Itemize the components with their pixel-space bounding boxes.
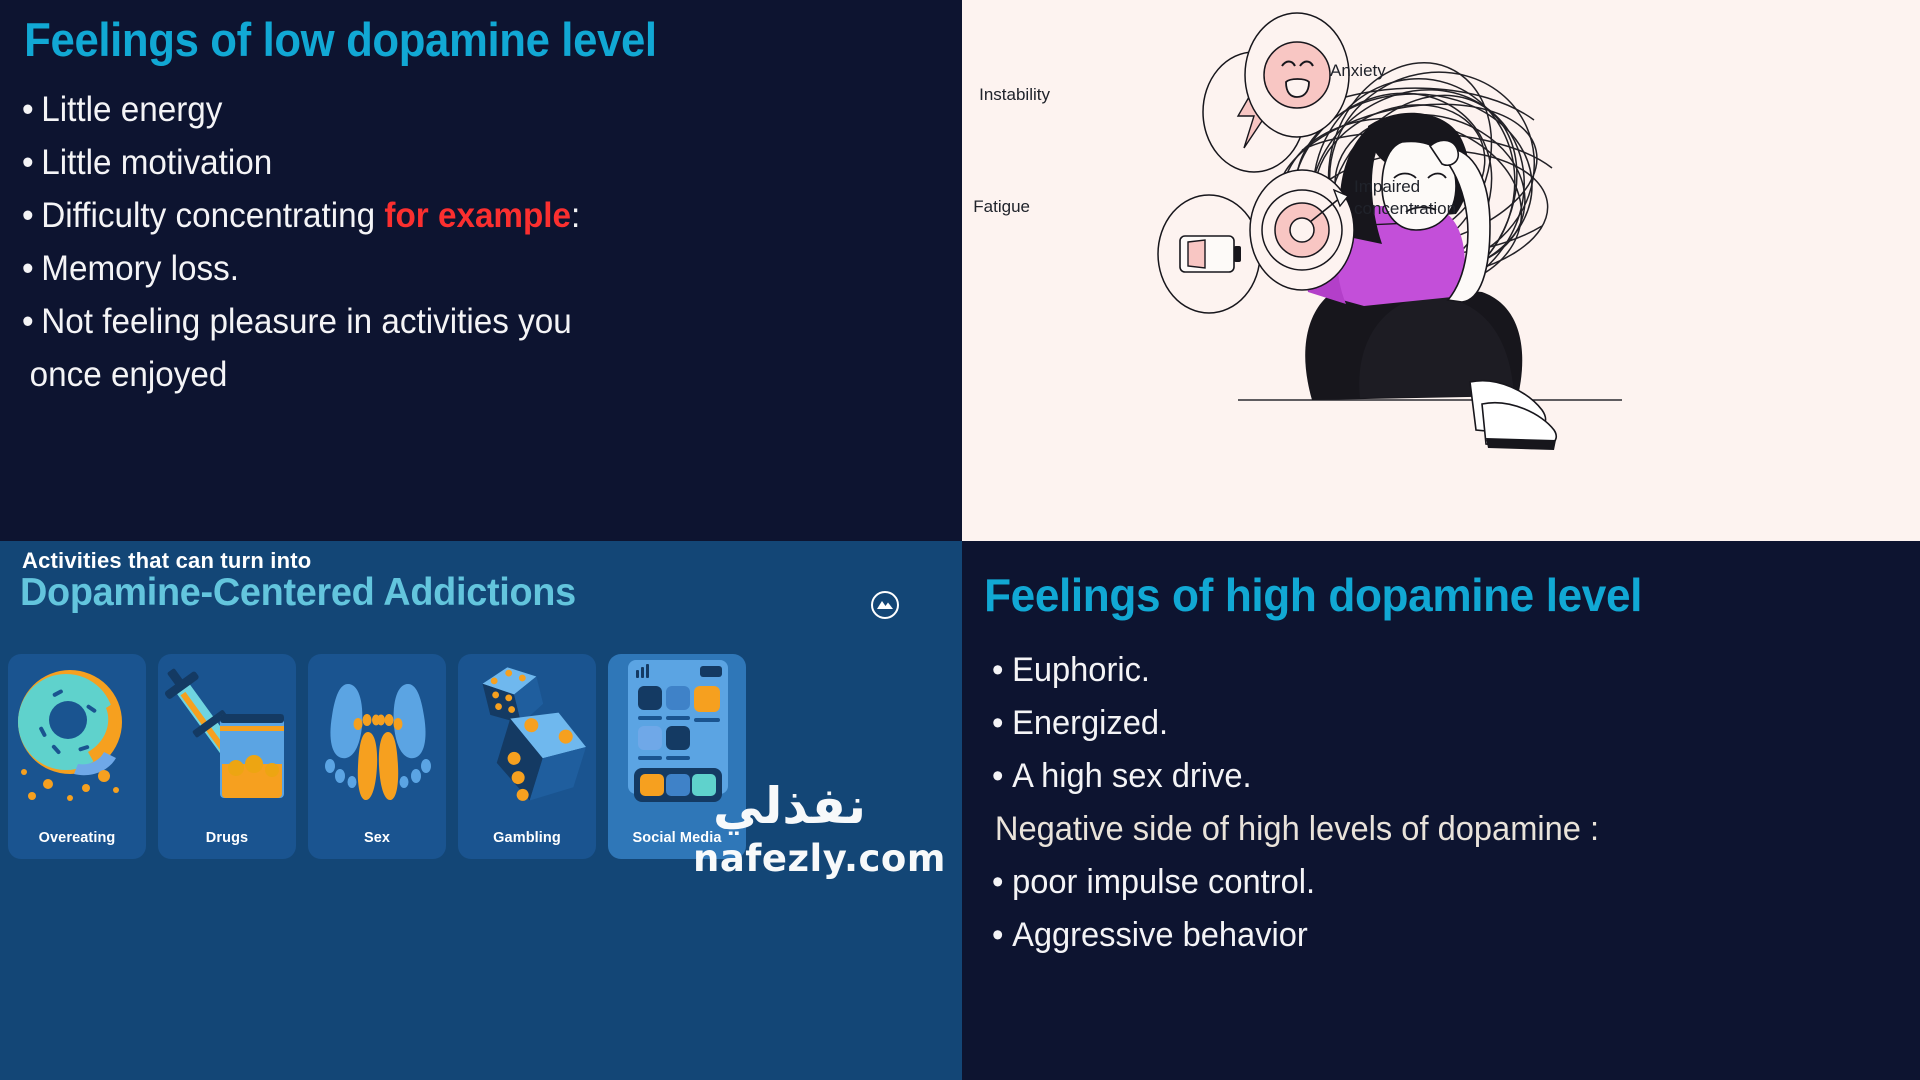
illustration-canvas: Instability Fatigue Anxiety Impaired con…	[962, 0, 1920, 541]
smartphone-apps-icon	[608, 660, 746, 810]
list-item-continuation: once enjoyed	[22, 348, 915, 401]
bullet-glyph: •	[22, 249, 34, 288]
bullet-glyph: •	[22, 143, 34, 182]
low-dopamine-bullet-list: •Little energy •Little motivation •Diffi…	[0, 67, 962, 401]
bullet-glyph: •	[992, 863, 1003, 901]
label-instability: Instability	[962, 84, 1050, 106]
addiction-card-sex[interactable]: Sex	[308, 654, 446, 859]
label-impaired-line2: concentration	[1354, 198, 1524, 220]
card-label: Gambling	[458, 830, 596, 846]
label-impaired-concentration: Impaired concentration	[1354, 176, 1524, 220]
impaired-concentration-bubble	[1250, 170, 1354, 290]
label-fatigue: Fatigue	[962, 196, 1030, 218]
list-item: •Euphoric.	[992, 644, 1883, 697]
list-item: •Little energy	[22, 83, 915, 136]
circle-mountain-logo-icon	[870, 590, 900, 620]
list-item: •Little motivation	[22, 136, 915, 189]
list-item-label: Euphoric.	[1012, 651, 1150, 689]
card-label: Overeating	[8, 830, 146, 846]
list-item-label: Energized.	[1012, 704, 1168, 742]
bullet-glyph: •	[992, 757, 1003, 795]
list-item: •A high sex drive.	[992, 750, 1883, 803]
addiction-card-list: Overeating	[8, 654, 746, 859]
bullet-glyph: •	[22, 90, 34, 129]
list-item-label: Little motivation	[41, 143, 272, 182]
list-item-label: Aggressive behavior	[1012, 916, 1308, 954]
card-label: Sex	[308, 830, 446, 846]
list-item: •Aggressive behavior	[992, 909, 1883, 962]
fatigue-bubble	[1158, 195, 1260, 313]
sub-heading: Negative side of high levels of dopamine…	[992, 803, 1883, 856]
high-dopamine-bullet-list: •Euphoric. •Energized. •A high sex drive…	[962, 622, 1920, 962]
dice-icon	[458, 660, 596, 810]
card-label: Drugs	[158, 830, 296, 846]
list-item: •Memory loss.	[22, 242, 915, 295]
bullet-glyph: •	[22, 196, 34, 235]
list-item: •poor impulse control.	[992, 856, 1883, 909]
label-impaired-line1: Impaired	[1354, 176, 1524, 198]
addictions-headline: Dopamine-Centered Addictions	[20, 571, 576, 615]
syringe-and-jar-icon	[158, 660, 296, 810]
footprints-icon	[308, 660, 446, 810]
addiction-card-drugs[interactable]: Drugs	[158, 654, 296, 859]
list-item-label: Not feeling pleasure in activities you	[41, 302, 571, 341]
bullet-glyph: •	[992, 651, 1003, 689]
shoe-sole	[1486, 438, 1556, 450]
list-item: •Difficulty concentrating for example:	[22, 189, 915, 242]
list-item-label: poor impulse control.	[1012, 863, 1315, 901]
addictions-panel: Activities that can turn into Dopamine-C…	[0, 541, 962, 1080]
card-label: Social Media	[608, 830, 746, 846]
low-dopamine-title: Feelings of low dopamine level	[0, 0, 895, 67]
low-dopamine-panel: Feelings of low dopamine level •Little e…	[0, 0, 962, 541]
slide-collage: Feelings of low dopamine level •Little e…	[0, 0, 1920, 1080]
high-dopamine-panel: Feelings of high dopamine level •Euphori…	[962, 541, 1920, 1080]
bullet-glyph: •	[992, 916, 1003, 954]
list-item-label: A high sex drive.	[1012, 757, 1252, 795]
high-dopamine-title: Feelings of high dopamine level	[962, 541, 1882, 622]
bullet-glyph: •	[22, 302, 34, 341]
addiction-card-gambling[interactable]: Gambling	[458, 654, 596, 859]
donut-icon	[8, 660, 146, 810]
bullet-glyph: •	[992, 704, 1003, 742]
label-anxiety: Anxiety	[1330, 60, 1490, 82]
list-item-label: Memory loss.	[41, 249, 239, 288]
list-item-label: Little energy	[41, 90, 222, 129]
emphasis-tail: :	[571, 196, 580, 235]
addiction-card-overeating[interactable]: Overeating	[8, 654, 146, 859]
addiction-card-social-media[interactable]: Social Media	[608, 654, 746, 859]
list-item: •Not feeling pleasure in activities you	[22, 295, 915, 348]
anxious-face-icon	[1264, 42, 1330, 108]
emphasis-text: for example	[384, 196, 571, 235]
list-item-label: Difficulty concentrating	[41, 196, 384, 235]
list-item: •Energized.	[992, 697, 1883, 750]
stress-illustration-panel: Instability Fatigue Anxiety Impaired con…	[962, 0, 1920, 541]
